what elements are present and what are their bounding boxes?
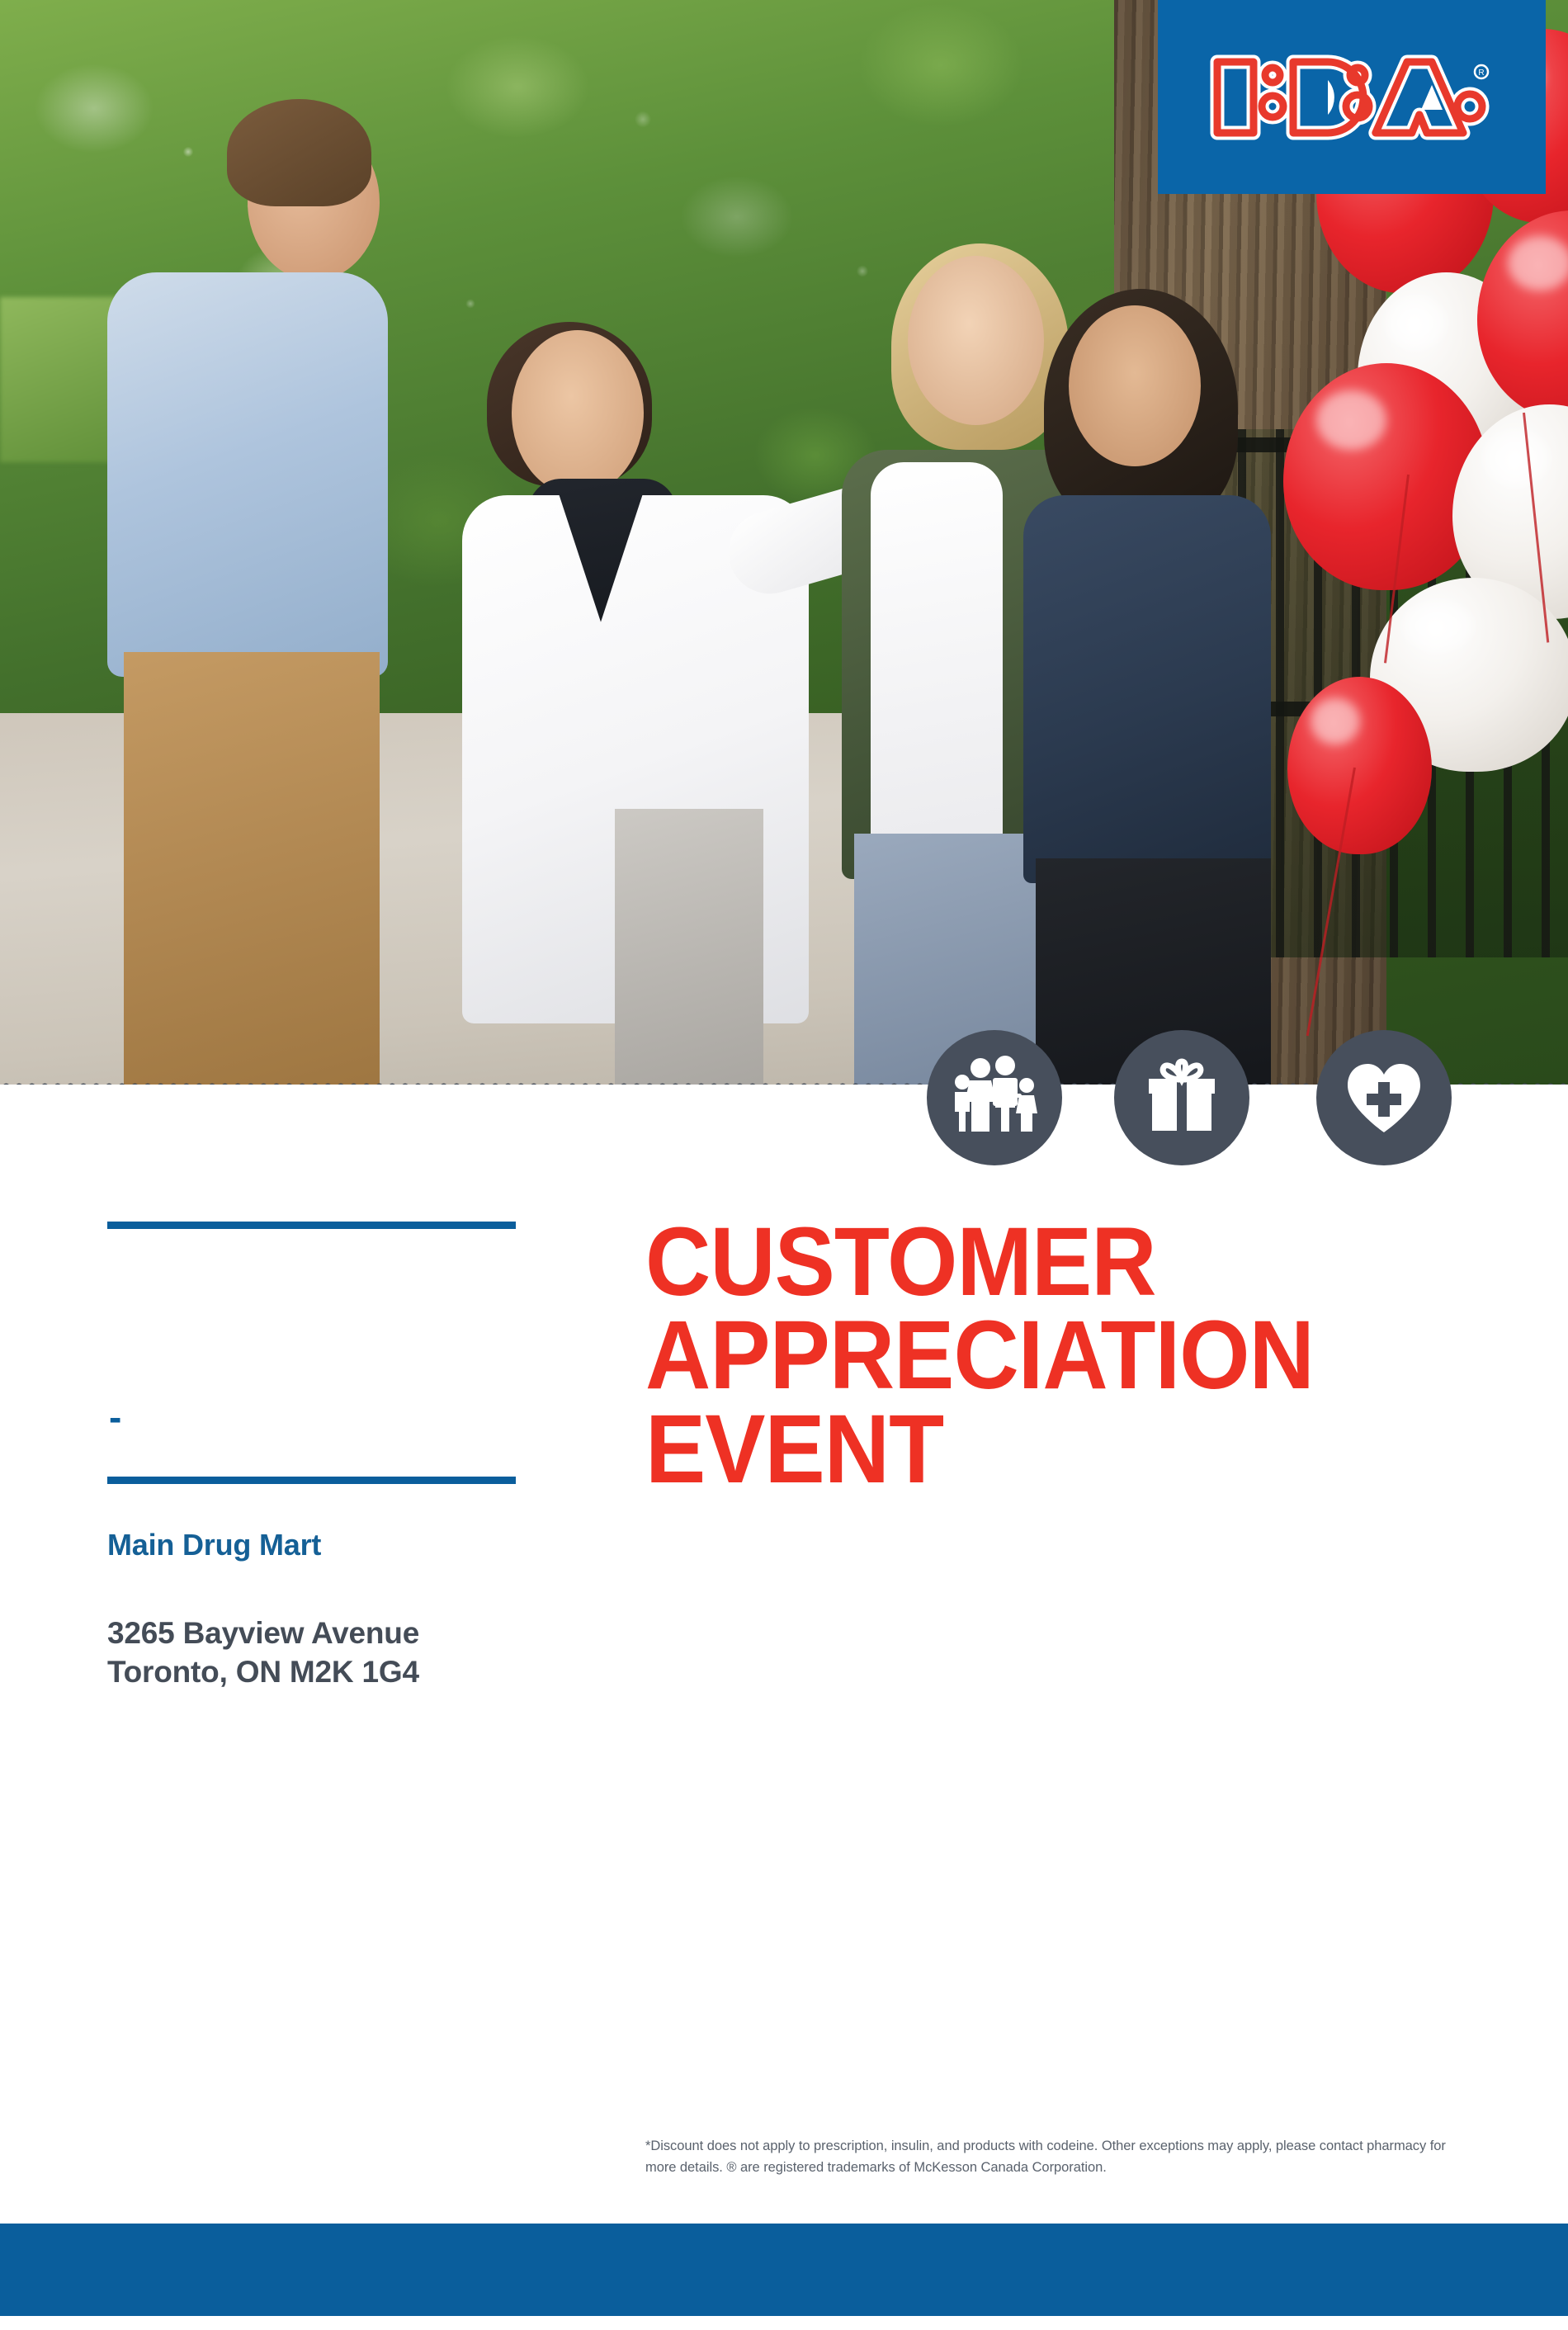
balloon-red-5 bbox=[1287, 677, 1432, 854]
footer-bar bbox=[0, 2224, 1568, 2316]
man-shirt bbox=[107, 272, 388, 677]
store-separator-dash: - bbox=[109, 1398, 121, 1436]
poster-root: R bbox=[0, 0, 1568, 2330]
family-icon bbox=[949, 1052, 1040, 1143]
store-address: 3265 Bayview Avenue Toronto, ON M2K 1G4 bbox=[107, 1614, 520, 1692]
badge-gift bbox=[1114, 1030, 1249, 1165]
ida-logo: R bbox=[1158, 0, 1546, 194]
svg-text:R: R bbox=[1478, 69, 1484, 78]
pharmacist-pants bbox=[615, 809, 763, 1085]
navy-woman-head bbox=[1069, 305, 1201, 466]
store-name: Main Drug Mart bbox=[107, 1528, 520, 1562]
gift-icon bbox=[1141, 1056, 1223, 1139]
disclaimer-text: *Discount does not apply to prescription… bbox=[645, 2136, 1446, 2178]
navy-tee bbox=[1023, 495, 1271, 883]
man-pants bbox=[124, 652, 380, 1085]
heart-plus-icon bbox=[1341, 1055, 1427, 1141]
pharmacist-head bbox=[512, 330, 644, 495]
man-hair bbox=[227, 99, 371, 206]
store-info-block: - Main Drug Mart 3265 Bayview Avenue Tor… bbox=[107, 1222, 520, 1692]
page-title: CUSTOMER APPRECIATION EVENT bbox=[645, 1216, 1443, 1496]
ida-logo-icon: R bbox=[1207, 47, 1496, 148]
badge-health bbox=[1316, 1030, 1452, 1165]
store-rule-bottom bbox=[107, 1477, 516, 1484]
white-tee bbox=[871, 462, 1003, 842]
blonde-head bbox=[908, 256, 1044, 425]
store-rule-top bbox=[107, 1222, 516, 1229]
badge-family bbox=[927, 1030, 1062, 1165]
store-placeholder-area: - bbox=[107, 1229, 520, 1477]
